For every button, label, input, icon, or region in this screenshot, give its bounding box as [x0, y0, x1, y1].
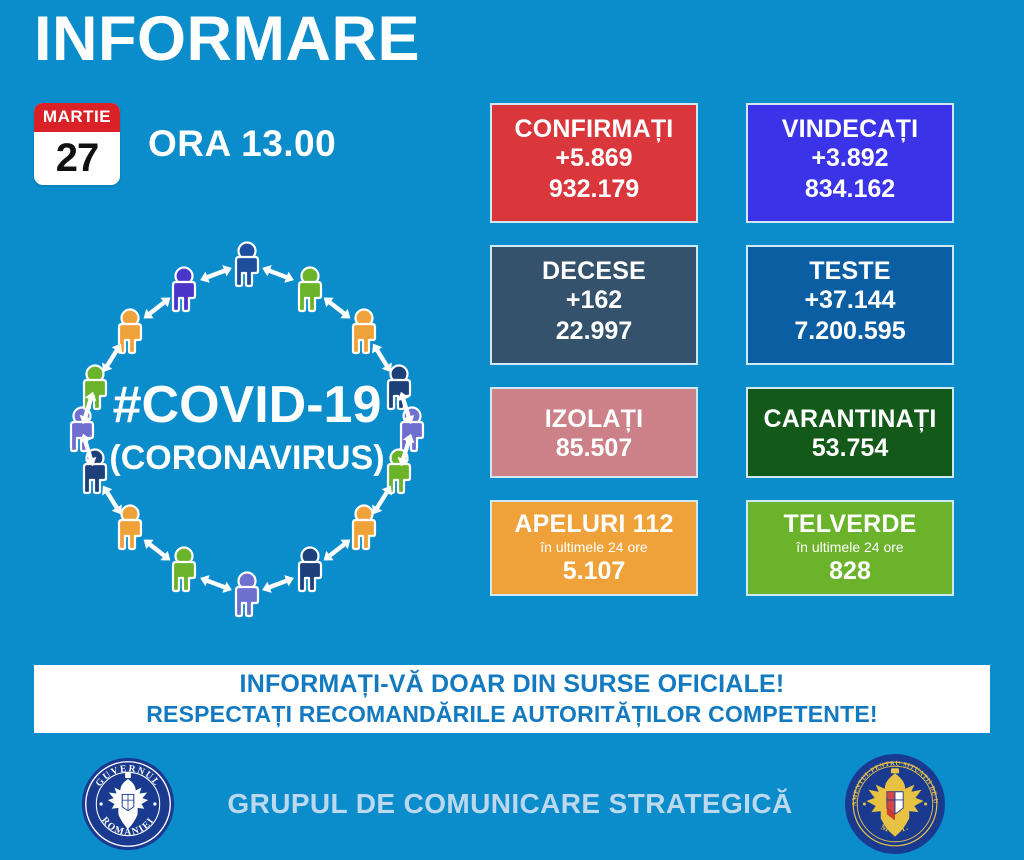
stat-delta: +3.892 [754, 143, 946, 174]
stats-row: DECESE +162 22.997 TESTE +37.144 7.200.5… [490, 245, 954, 365]
stat-delta: +162 [498, 285, 690, 316]
stats-row: APELURI 112 în ultimele 24 ore 5.107 TEL… [490, 500, 954, 596]
stat-card-izolati[interactable]: IZOLAȚI 85.507 [490, 387, 698, 478]
stat-total: 85.507 [498, 433, 690, 464]
stat-card-vindecati[interactable]: VINDECAȚI +3.892 834.162 [746, 103, 954, 223]
calendar-icon: MARTIE 27 [34, 103, 120, 185]
stat-delta: +5.869 [498, 143, 690, 174]
stat-label: TESTE [754, 257, 946, 285]
stat-delta: +37.144 [754, 285, 946, 316]
stat-label: IZOLAȚI [498, 405, 690, 433]
banner-line-2: RESPECTAȚI RECOMANDĂRILE AUTORITĂȚILOR C… [146, 701, 878, 728]
stat-card-teste[interactable]: TESTE +37.144 7.200.595 [746, 245, 954, 365]
stat-sublabel: în ultimele 24 ore [754, 539, 946, 556]
covid-sub-text: (CORONAVIRUS) [109, 439, 384, 477]
covid-social-distancing-graphic: #COVID-19 (CORONAVIRUS) [32, 222, 462, 637]
stat-total: 932.179 [498, 174, 690, 205]
calendar-day-label: 27 [34, 132, 120, 185]
stat-card-carantinati[interactable]: CARANTINAȚI 53.754 [746, 387, 954, 478]
stat-total: 22.997 [498, 316, 690, 347]
footer-title: GRUPUL DE COMUNICARE STRATEGICĂ [176, 788, 844, 820]
stat-total: 53.754 [754, 433, 946, 464]
stat-label: CONFIRMAȚI [498, 115, 690, 143]
stats-grid: CONFIRMAȚI +5.869 932.179 VINDECAȚI +3.8… [490, 103, 954, 618]
stats-row: IZOLAȚI 85.507 CARANTINAȚI 53.754 [490, 387, 954, 478]
banner-line-1: INFORMAȚI-VĂ DOAR DIN SURSE OFICIALE! [240, 670, 785, 699]
stat-label: CARANTINAȚI [754, 405, 946, 433]
official-sources-banner: INFORMAȚI-VĂ DOAR DIN SURSE OFICIALE! RE… [34, 665, 990, 733]
dsu-mai-logo: DEPARTAMENTUL PENTRU SITUAȚII DE URGENȚĂ… [844, 753, 946, 855]
covid-main-text: #COVID-19 [113, 376, 382, 434]
footer: GUVERNUL ROMÂNIEI GRUPUL DE COMUNICARE S… [0, 748, 1024, 860]
stat-total: 828 [754, 556, 946, 587]
hour-label: ORA 13.00 [148, 123, 336, 165]
calendar-month-label: MARTIE [34, 103, 120, 132]
stat-card-telverde[interactable]: TELVERDE în ultimele 24 ore 828 [746, 500, 954, 596]
stat-label: APELURI 112 [498, 510, 690, 538]
stat-sublabel: în ultimele 24 ore [498, 539, 690, 556]
stat-label: TELVERDE [754, 510, 946, 538]
stat-label: DECESE [498, 257, 690, 285]
stat-label: VINDECAȚI [754, 115, 946, 143]
stat-total: 7.200.595 [754, 316, 946, 347]
page-title: INFORMARE [34, 6, 420, 72]
stat-card-confirmati[interactable]: CONFIRMAȚI +5.869 932.179 [490, 103, 698, 223]
guvernul-romaniei-logo: GUVERNUL ROMÂNIEI [80, 756, 176, 852]
stat-card-decese[interactable]: DECESE +162 22.997 [490, 245, 698, 365]
stat-total: 834.162 [754, 174, 946, 205]
stat-card-apeluri-112[interactable]: APELURI 112 în ultimele 24 ore 5.107 [490, 500, 698, 596]
date-time-row: MARTIE 27 ORA 13.00 [34, 103, 336, 185]
stat-total: 5.107 [498, 556, 690, 587]
stats-row: CONFIRMAȚI +5.869 932.179 VINDECAȚI +3.8… [490, 103, 954, 223]
